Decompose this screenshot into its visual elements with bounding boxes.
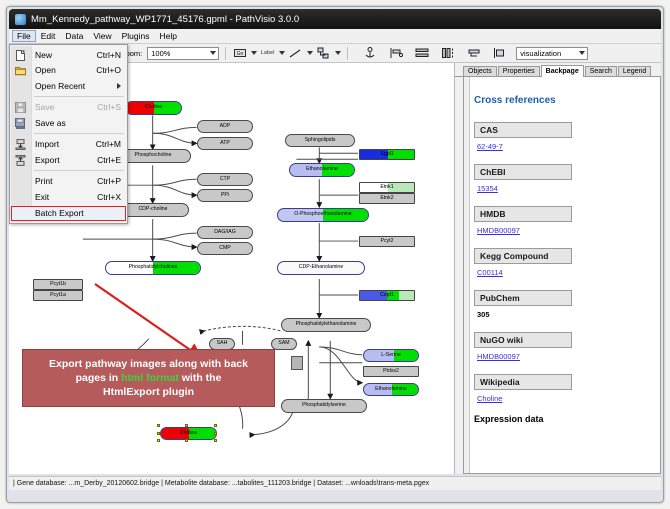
menu-item-open[interactable]: Open Ctrl+O (10, 63, 127, 79)
annotation-callout: Export pathway images along with back pa… (22, 349, 275, 407)
tab-backpage[interactable]: Backpage (541, 65, 584, 78)
menu-separator (34, 96, 124, 97)
menu-item-save[interactable]: Save Ctrl+S (10, 100, 127, 116)
expression-data-title: Expression data (474, 414, 660, 424)
menu-separator (34, 133, 124, 134)
cross-references-title: Cross references (474, 95, 660, 106)
xref-group-hmdb: HMDB HMDB00097 (474, 204, 660, 235)
screenshot-root: Mm_Kennedy_pathway_WP1771_45176.gpml - P… (0, 0, 670, 509)
new-document-icon (15, 50, 26, 61)
node-ethanolamine-2[interactable]: Ethanolamine (363, 383, 419, 396)
xref-group-cas: CAS 62-49-7 (474, 120, 660, 151)
node-phosphatidylserine[interactable]: Phosphatidylserine (281, 399, 367, 413)
menu-item-import[interactable]: Import Ctrl+M (10, 137, 127, 153)
menu-data[interactable]: Data (60, 30, 88, 42)
menu-separator (34, 170, 124, 171)
toolbar-divider (225, 47, 226, 60)
menu-item-label: Save (35, 102, 54, 112)
order-icon[interactable] (492, 46, 507, 61)
node-pcyt1b[interactable]: Pcyt1b (33, 279, 83, 290)
node-cept1[interactable]: Cept1 (359, 290, 415, 301)
annotation-highlight: html format (121, 372, 179, 384)
xref-link[interactable]: Choline (477, 394, 660, 403)
xref-link[interactable]: HMDB00097 (477, 352, 660, 361)
interaction-icon[interactable] (316, 46, 331, 61)
xref-value: 305 (477, 310, 660, 319)
tab-legend[interactable]: Legend (618, 66, 651, 77)
open-folder-icon (15, 65, 26, 76)
zoom-combo[interactable]: 100% (147, 47, 219, 60)
align-left-icon[interactable] (388, 46, 403, 61)
menu-item-save-as[interactable]: Save as (10, 115, 127, 131)
menu-item-label: New (35, 50, 52, 60)
chevron-down-icon[interactable] (307, 51, 313, 55)
node-etnk2[interactable]: Etnk2 (359, 193, 415, 204)
menu-item-accelerator: Ctrl+P (97, 176, 121, 186)
side-panel-tabstrip: Objects Properties Backpage Search Legen… (455, 63, 661, 77)
anchor-icon[interactable] (362, 46, 377, 61)
xref-group-wikipedia: Wikipedia Choline (474, 372, 660, 403)
menu-item-accelerator: Ctrl+X (97, 192, 121, 202)
node-etnk1[interactable]: Etnk1 (359, 182, 415, 193)
menu-item-exit[interactable]: Exit Ctrl+X (10, 189, 127, 205)
menu-help[interactable]: Help (155, 30, 182, 42)
node-phosphatidylcholines[interactable]: Phosphatidylcholines (105, 261, 201, 275)
xref-link[interactable]: 62-49-7 (477, 142, 660, 151)
export-icon (15, 155, 26, 166)
node-ctp[interactable]: CTP (197, 173, 253, 186)
xref-group-chebi: ChEBI 15354 (474, 162, 660, 193)
datanode-icon[interactable]: Gn (232, 46, 247, 61)
visualization-value: visualization (520, 49, 561, 58)
menu-item-label: Import (35, 139, 59, 149)
menu-item-accelerator: Ctrl+S (97, 102, 121, 112)
xref-group-kegg-compound: Kegg Compound C00114 (474, 246, 660, 277)
menu-item-label: Print (35, 176, 52, 186)
annotation-line-2-c: with the (179, 372, 222, 384)
menu-item-label: Open Recent (35, 81, 85, 91)
menu-item-print[interactable]: Print Ctrl+P (10, 174, 127, 190)
svg-text:Gn: Gn (236, 51, 243, 57)
align-middle-icon[interactable] (414, 46, 429, 61)
visualization-combo[interactable]: visualization (516, 47, 588, 60)
menu-item-label: Save as (35, 118, 66, 128)
menu-item-accelerator: Ctrl+M (96, 139, 121, 149)
tab-objects[interactable]: Objects (463, 66, 497, 77)
chevron-down-icon[interactable] (279, 51, 285, 55)
menu-item-accelerator: Ctrl+O (96, 65, 121, 75)
node-atp[interactable]: ATP (197, 137, 253, 150)
menu-view[interactable]: View (88, 30, 116, 42)
xref-name: Wikipedia (474, 374, 572, 390)
menu-plugins[interactable]: Plugins (117, 30, 155, 42)
xref-name: NuGO wiki (474, 332, 572, 348)
chevron-down-icon[interactable] (251, 51, 257, 55)
side-panel: Objects Properties Backpage Search Legen… (455, 63, 661, 474)
node-phosphatidylethanolamine[interactable]: Phosphatidylethanolamine (281, 318, 371, 332)
xref-link[interactable]: C00114 (477, 268, 660, 277)
save-as-icon (15, 118, 26, 129)
node-l-serine[interactable]: L-Serine (363, 349, 419, 362)
menu-item-open-recent[interactable]: Open Recent (10, 78, 127, 94)
menu-item-new[interactable]: New Ctrl+N (10, 47, 127, 63)
menu-item-label: Export (35, 155, 60, 165)
xref-name: Kegg Compound (474, 248, 572, 264)
menu-item-label: Batch Export (35, 208, 84, 218)
node-sgpl1[interactable]: Sgpl1 (359, 149, 415, 160)
chevron-right-icon (117, 83, 121, 89)
menu-bar: File Edit Data View Plugins Help (9, 29, 661, 44)
stack-icon[interactable] (466, 46, 481, 61)
label-icon[interactable]: Label (260, 46, 275, 61)
node-pcyt1a[interactable]: Pcyt1a (33, 290, 83, 301)
node-cmp[interactable]: CMP (197, 242, 253, 255)
node-ptdss2[interactable]: Ptdss2 (363, 366, 419, 377)
node-sphingolipids[interactable]: Sphingolipids (285, 134, 355, 147)
zoom-value: 100% (151, 49, 170, 58)
menu-edit[interactable]: Edit (36, 30, 61, 42)
window-title: Mm_Kennedy_pathway_WP1771_45176.gpml - P… (31, 14, 299, 25)
node-choline-top[interactable]: Choline (125, 101, 182, 115)
chevron-down-icon (210, 51, 216, 55)
xref-name: CAS (474, 122, 572, 138)
menu-item-label: Open (35, 65, 56, 75)
annotation-line-2: pages in html format with the (76, 371, 222, 385)
save-disk-icon (15, 102, 26, 113)
menu-file[interactable]: File (12, 30, 36, 42)
line-icon[interactable] (288, 46, 303, 61)
backpage-content: Cross references CAS 62-49-7 ChEBI 15354… (463, 77, 661, 474)
menu-item-batch-export[interactable]: Batch Export (11, 206, 126, 221)
annotation-line-1: Export pathway images along with back (49, 357, 248, 371)
chevron-down-icon (579, 51, 585, 55)
menu-item-label: Exit (35, 192, 49, 202)
xref-name: ChEBI (474, 164, 572, 180)
node-ppi[interactable]: PPi (197, 189, 253, 202)
node-dag-ag[interactable]: DAG/IAG (197, 226, 253, 239)
menu-item-export[interactable]: Export Ctrl+E (10, 152, 127, 168)
file-menu-dropdown[interactable]: New Ctrl+N Open Ctrl+O Open Recent Save … (9, 44, 128, 224)
menu-item-accelerator: Ctrl+E (97, 155, 121, 165)
pathvisio-app-icon (15, 14, 26, 25)
toolbar-divider (347, 47, 348, 60)
title-bar: Mm_Kennedy_pathway_WP1771_45176.gpml - P… (9, 9, 661, 29)
tab-search[interactable]: Search (585, 66, 617, 77)
node-pcyt2[interactable]: Pcyt2 (359, 236, 415, 247)
status-text: | Gene database: ...m_Derby_20120602.bri… (13, 480, 429, 487)
chevron-down-icon[interactable] (335, 51, 341, 55)
menu-item-accelerator: Ctrl+N (97, 50, 121, 60)
xref-name: PubChem (474, 290, 572, 306)
distribute-icon[interactable] (440, 46, 455, 61)
import-icon (15, 139, 26, 150)
annotation-line-3: HtmlExport plugin (103, 385, 194, 399)
xref-name: HMDB (474, 206, 572, 222)
xref-link[interactable]: 15354 (477, 184, 660, 193)
node-choline-selected[interactable]: Choline (160, 427, 217, 440)
status-bar: | Gene database: ...m_Derby_20120602.bri… (9, 476, 661, 490)
anchor-box-ptd-eth (291, 356, 303, 370)
xref-group-pubchem: PubChem 305 (474, 288, 660, 319)
xref-group-nugo-wiki: NuGO wiki HMDB00097 (474, 330, 660, 361)
node-cdp-ethanolamine[interactable]: CDP-Ethanolamine (277, 261, 365, 275)
backpage-scrollbar[interactable] (464, 77, 470, 474)
annotation-line-2-a: pages in (76, 372, 122, 384)
tab-properties[interactable]: Properties (498, 66, 540, 77)
xref-link[interactable]: HMDB00097 (477, 226, 660, 235)
node-ethanolamine-1[interactable]: Ethanolamine (289, 163, 355, 177)
node-adp[interactable]: ADP (197, 120, 253, 133)
node-o-phosphoethanolamine[interactable]: O-Phosphoethanolamine (277, 208, 369, 222)
